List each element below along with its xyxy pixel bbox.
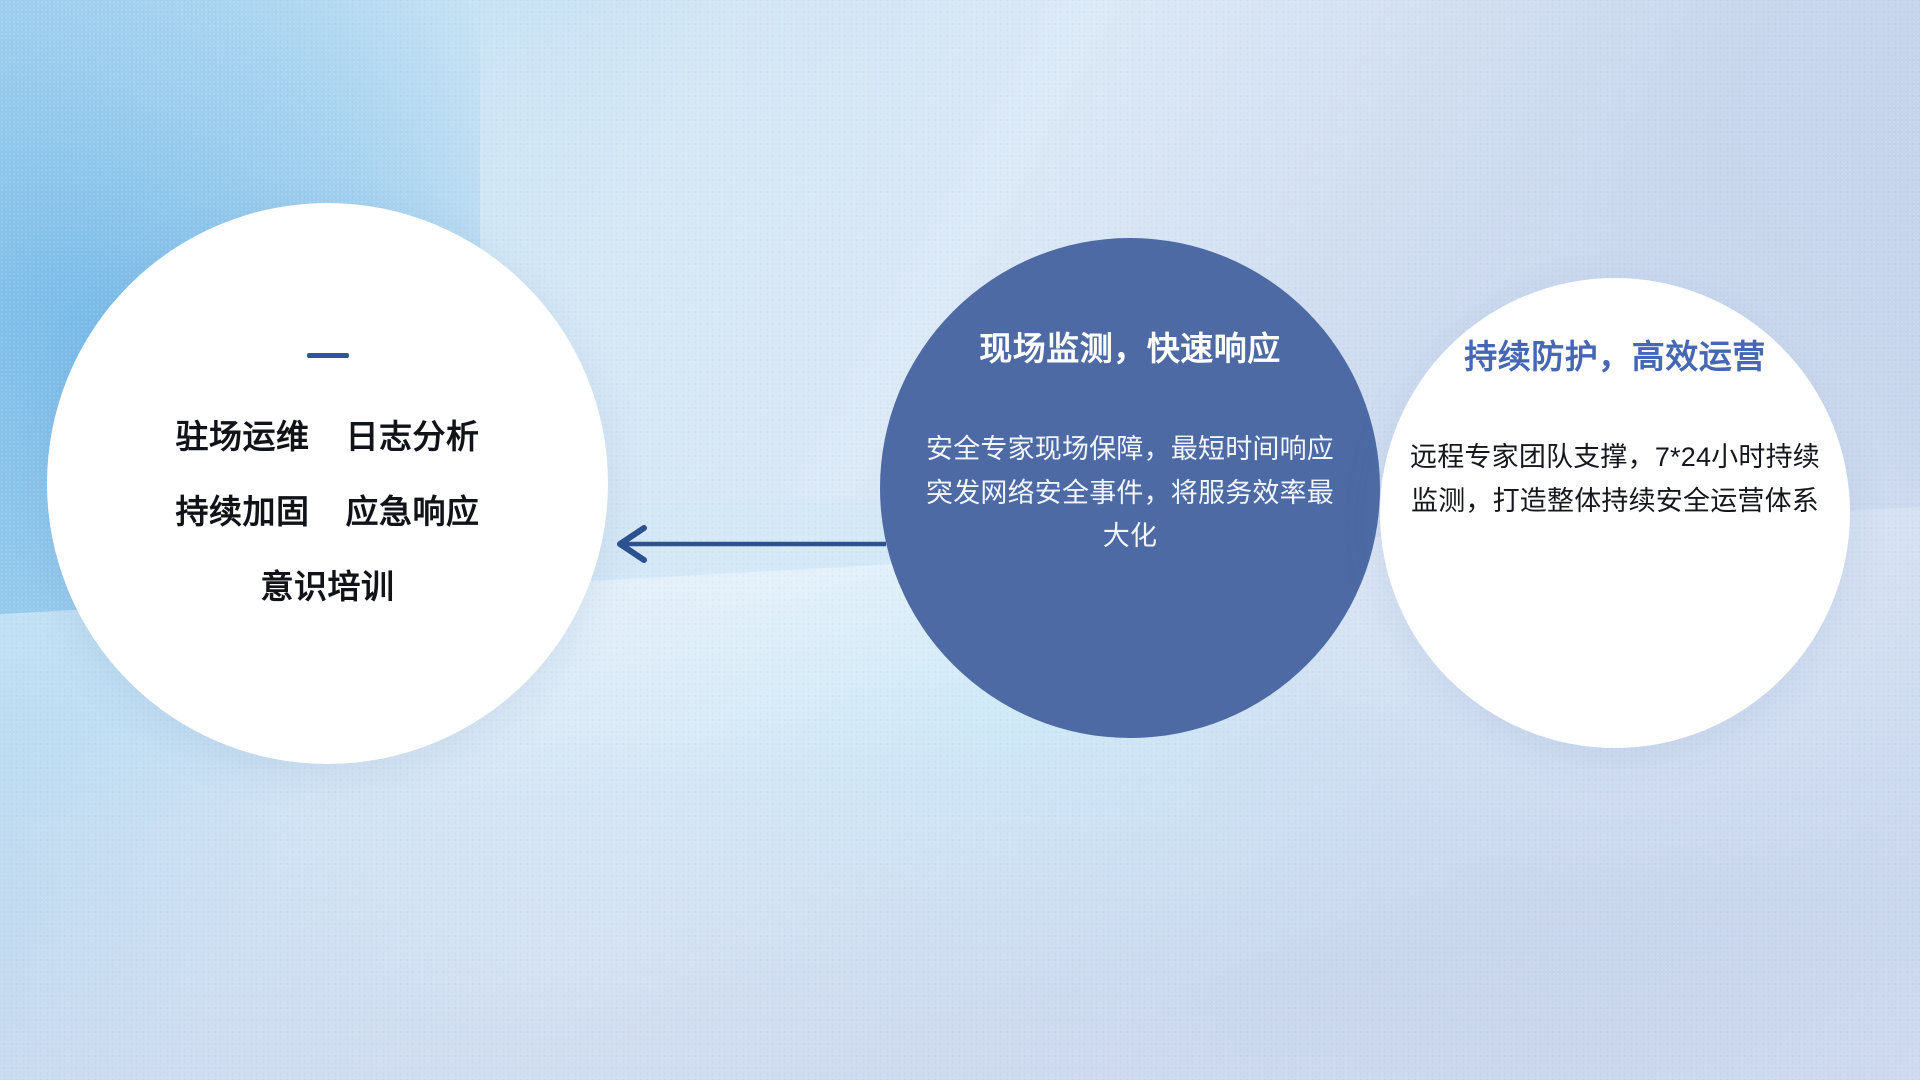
node-onsite-circle[interactable]: 现场监测，快速响应 安全专家现场保障，最短时间响应突发网络安全事件，将服务效率最… [880, 238, 1380, 738]
capability-item[interactable]: 持续加固 [176, 485, 310, 533]
capability-item[interactable]: 应急响应 [346, 485, 480, 533]
capability-row: 驻场运维 日志分析 [109, 410, 546, 458]
node-continuous-circle[interactable]: 持续防护，高效运营 远程专家团队支撑，7*24小时持续监测，打造整体持续安全运营… [1380, 278, 1850, 748]
node-continuous-body: 远程专家团队支撑，7*24小时持续监测，打造整体持续安全运营体系 [1408, 436, 1822, 523]
capability-item[interactable]: 驻场运维 [176, 410, 310, 458]
node-continuous-title: 持续防护，高效运营 [1464, 330, 1766, 378]
capability-item[interactable]: 意识培训 [261, 560, 395, 608]
flow-arrow-left [600, 520, 890, 568]
capability-keyword-list: 驻场运维 日志分析 持续加固 应急响应 意识培训 [109, 410, 546, 608]
capability-row: 持续加固 应急响应 [109, 485, 546, 533]
diagram-stage: 驻场运维 日志分析 持续加固 应急响应 意识培训 现场监测，快速响应 安全专家现… [0, 0, 1920, 1080]
divider-dash [307, 353, 349, 358]
capability-row: 意识培训 [109, 560, 546, 608]
capability-item[interactable]: 日志分析 [346, 410, 480, 458]
node-onsite-body: 安全专家现场保障，最短时间响应突发网络安全事件，将服务效率最大化 [924, 428, 1336, 559]
node-onsite-title: 现场监测，快速响应 [979, 322, 1281, 370]
node-capabilities-circle[interactable]: 驻场运维 日志分析 持续加固 应急响应 意识培训 [47, 203, 608, 764]
